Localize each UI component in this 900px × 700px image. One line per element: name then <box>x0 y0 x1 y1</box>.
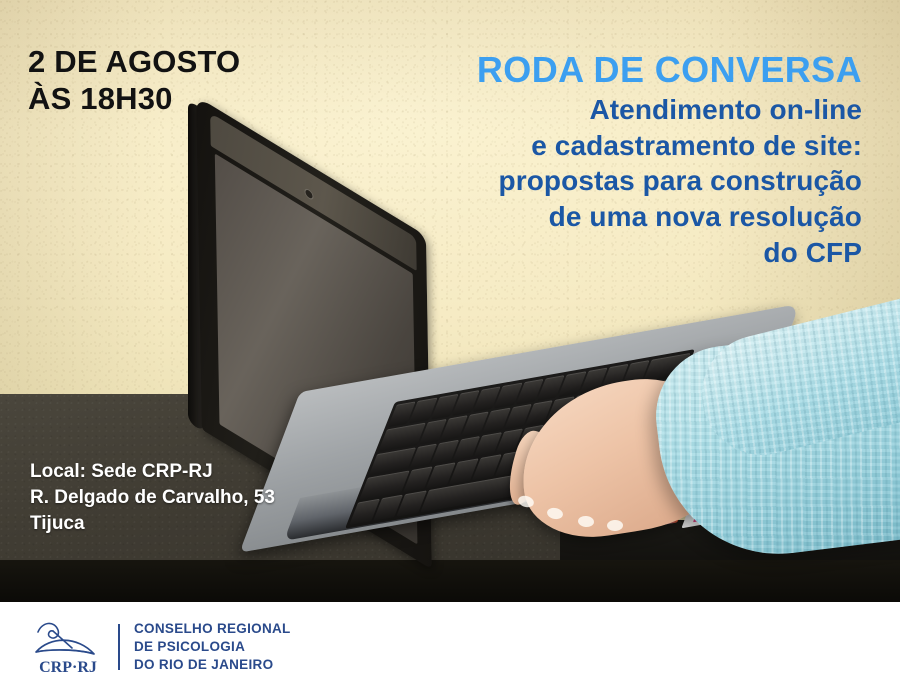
footer-bar: CRP·RJ CONSELHO REGIONAL DE PSICOLOGIA D… <box>0 602 900 700</box>
venue-block: Local: Sede CRP-RJ R. Delgado de Carvalh… <box>30 459 275 538</box>
logo-divider <box>118 624 120 670</box>
venue-line-3: Tijuca <box>30 511 275 537</box>
desk-front-edge <box>0 560 900 602</box>
event-subtitle-line-3: propostas para construção <box>477 164 862 198</box>
org-name-line-1: CONSELHO REGIONAL <box>134 620 291 638</box>
org-name-line-3: DO RIO DE JANEIRO <box>134 656 291 674</box>
venue-line-1: Local: Sede CRP-RJ <box>30 459 275 485</box>
venue-line-2: R. Delgado de Carvalho, 53 <box>30 485 275 511</box>
background-photo: 2 DE AGOSTO ÀS 18H30 RODA DE CONVERSA At… <box>0 0 900 602</box>
webcam-icon <box>305 188 312 199</box>
crprj-logo-acronym: CRP·RJ <box>39 659 97 676</box>
event-subtitle-line-2: e cadastramento de site: <box>477 129 862 163</box>
event-title-main: RODA DE CONVERSA <box>477 48 862 91</box>
event-date-line-2: ÀS 18H30 <box>28 81 240 118</box>
event-date-line-1: 2 DE AGOSTO <box>28 44 240 81</box>
event-subtitle-line-1: Atendimento on-line <box>477 93 862 127</box>
event-subtitle-line-4: de uma nova resolução <box>477 200 862 234</box>
org-name: CONSELHO REGIONAL DE PSICOLOGIA DO RIO D… <box>134 620 291 675</box>
org-name-line-2: DE PSICOLOGIA <box>134 638 291 656</box>
crprj-logo[interactable]: CRP·RJ CONSELHO REGIONAL DE PSICOLOGIA D… <box>28 616 291 678</box>
crprj-logo-mark-icon: CRP·RJ <box>28 616 108 678</box>
event-title-block: RODA DE CONVERSA Atendimento on-line e c… <box>477 48 862 269</box>
poster-canvas: 2 DE AGOSTO ÀS 18H30 RODA DE CONVERSA At… <box>0 0 900 700</box>
event-date: 2 DE AGOSTO ÀS 18H30 <box>28 44 240 117</box>
event-subtitle-line-5: do CFP <box>477 236 862 270</box>
